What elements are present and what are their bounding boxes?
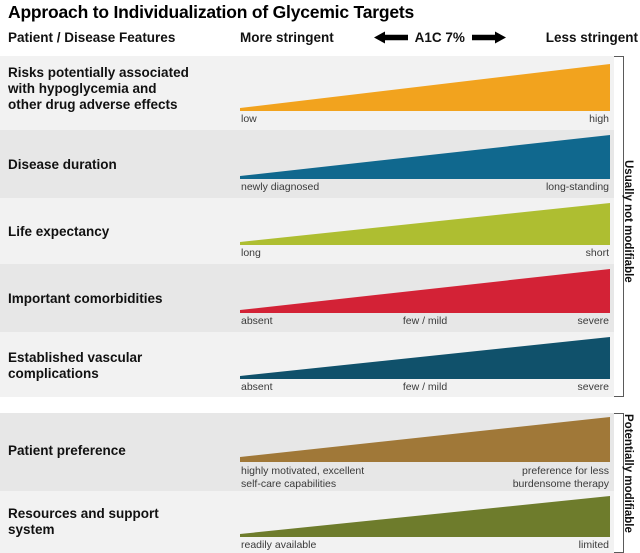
row-label: Risks potentially associated with hypogl… [8, 65, 189, 113]
scale-label-left: long [241, 247, 261, 260]
header-row: Patient / Disease Features More stringen… [0, 28, 640, 52]
a1c-target-label: A1C 7% [415, 30, 465, 45]
scale-label-right: limited [579, 539, 609, 552]
scale-label-left: newly diagnosed [241, 181, 319, 194]
scale-label-left: absent [241, 381, 273, 394]
wedge-graphic [240, 269, 610, 313]
stringency-scale-header: More stringent A1C 7% Less stringent [240, 30, 638, 45]
scale-label-right: severe [577, 315, 609, 328]
scale-label-right: long-standing [546, 181, 609, 194]
bracket-label-text: Potentially modifiable [622, 414, 634, 533]
scale-label-right: high [589, 113, 609, 126]
feature-column-header: Patient / Disease Features [8, 30, 175, 45]
scale-label-left: absent [241, 315, 273, 328]
row-resources-support-system[interactable]: Resources and support system readily ava… [0, 491, 614, 553]
group-usually-not-modifiable: Risks potentially associated with hypogl… [0, 56, 640, 397]
scale-label-right: short [586, 247, 609, 260]
row-important-comorbidities[interactable]: Important comorbidities absent few / mil… [0, 264, 614, 332]
wedge-graphic [240, 203, 610, 245]
row-label: Resources and support system [8, 506, 159, 538]
row-patient-preference[interactable]: Patient preference highly motivated, exc… [0, 413, 614, 491]
page-title: Approach to Individualization of Glycemi… [8, 2, 414, 23]
arrow-right-icon [472, 31, 506, 44]
row-disease-duration[interactable]: Disease duration newly diagnosed long-st… [0, 130, 614, 198]
scale-label-left: readily available [241, 539, 316, 552]
wedge-graphic [240, 417, 610, 462]
more-stringent-label: More stringent [240, 30, 334, 45]
row-risks-hypoglycemia[interactable]: Risks potentially associated with hypogl… [0, 56, 614, 130]
scale-label-mid: few / mild [403, 381, 447, 394]
row-label: Patient preference [8, 443, 126, 459]
a1c-center-group: A1C 7% [374, 30, 506, 45]
wedge-graphic [240, 135, 610, 179]
row-life-expectancy[interactable]: Life expectancy long short [0, 198, 614, 264]
row-established-vascular-complications[interactable]: Established vascular complications absen… [0, 332, 614, 397]
wedge-graphic [240, 337, 610, 379]
scale-label-left: low [241, 113, 257, 126]
scale-label-right: preference for less burdensome therapy [513, 465, 609, 491]
wedge-graphic [240, 64, 610, 111]
less-stringent-label: Less stringent [546, 30, 638, 45]
row-label: Important comorbidities [8, 291, 163, 307]
bracket-label-text: Usually not modifiable [622, 160, 634, 283]
scale-label-left: highly motivated, excellent self-care ca… [241, 465, 364, 491]
row-label: Life expectancy [8, 224, 109, 240]
wedge-graphic [240, 496, 610, 537]
scale-label-mid: few / mild [403, 315, 447, 328]
row-label: Disease duration [8, 157, 117, 173]
scale-label-right: severe [577, 381, 609, 394]
group-potentially-modifiable: Patient preference highly motivated, exc… [0, 413, 640, 553]
arrow-left-icon [374, 31, 408, 44]
row-label: Established vascular complications [8, 350, 142, 382]
